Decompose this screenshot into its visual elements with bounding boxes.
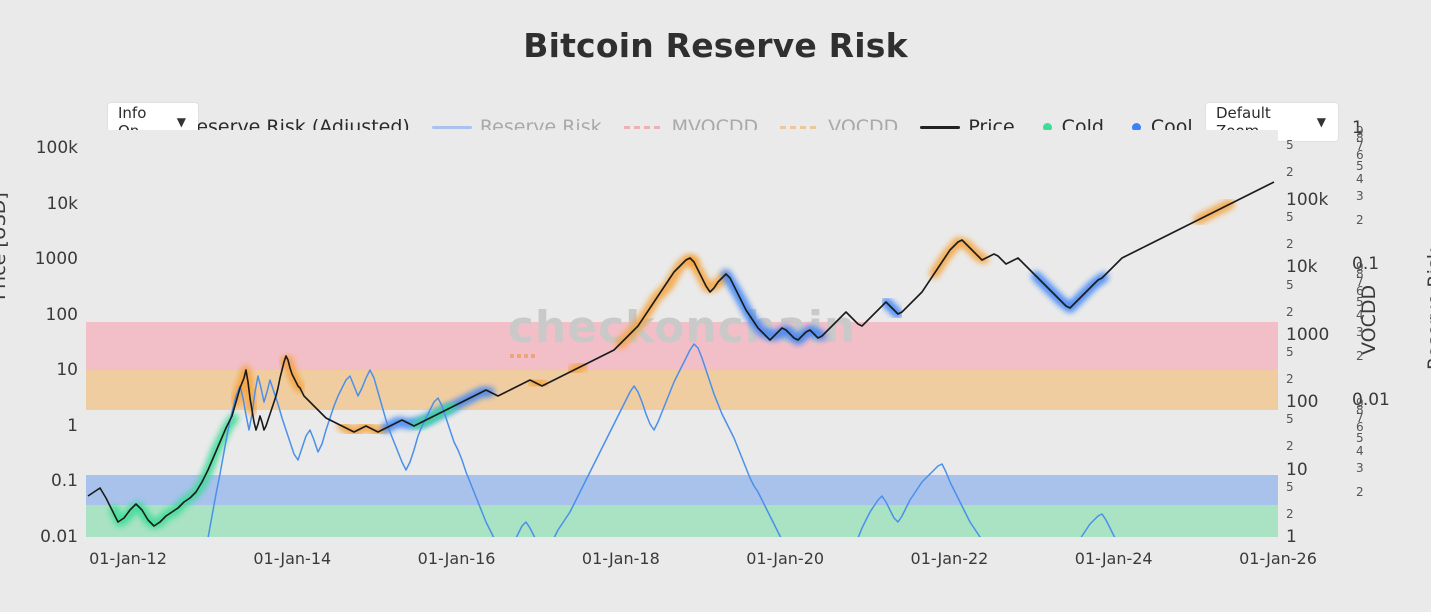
ytick-price-100: 100 (0, 305, 78, 325)
ytick-price-1000: 1000 (0, 249, 78, 269)
ytick-reserverisk-minor-5-0: 5 (1356, 159, 1364, 173)
ytick-reserverisk-minor-2-2: 2 (1356, 485, 1364, 499)
ytick-reserverisk-minor-2-0: 2 (1356, 213, 1364, 227)
ytick-vocdd-minor-5-1: 5 (1286, 278, 1294, 292)
legend-marker-price (920, 126, 960, 129)
xtick-01-Jan-22: 01-Jan-22 (911, 549, 989, 568)
ytick-vocdd-10: 10 (1286, 460, 1308, 480)
legend-marker-mvocdd (624, 126, 664, 129)
xtick-01-Jan-18: 01-Jan-18 (582, 549, 660, 568)
ytick-reserverisk-minor-5-2: 5 (1356, 431, 1364, 445)
ytick-vocdd-100k: 100k (1286, 190, 1328, 210)
xtick-01-Jan-20: 01-Jan-20 (746, 549, 824, 568)
ytick-reserverisk-minor-2-1: 2 (1356, 349, 1364, 363)
ytick-vocdd-minor-2-4: 2 (1286, 507, 1294, 521)
ytick-vocdd-minor-5-2: 5 (1286, 345, 1294, 359)
ytick-vocdd-minor-2-0: 2 (1286, 237, 1294, 251)
chart-plot-area[interactable]: checkonchain (86, 130, 1278, 537)
price-highlight-warm (620, 259, 694, 344)
ytick-reserverisk-minor-3-1: 3 (1356, 325, 1364, 339)
ytick-vocdd-minor-2-1: 2 (1286, 305, 1294, 319)
ytick-price-10k: 10k (0, 194, 78, 214)
price-highlight-cool (726, 274, 822, 340)
ytick-vocdd-minor-5-top: 5 (1286, 138, 1294, 152)
series-line-reserve-risk (99, 344, 1274, 537)
ytick-reserverisk-minor-4-1: 4 (1356, 308, 1364, 322)
ytick-price-1: 1 (0, 416, 78, 436)
legend-marker-reserve-risk (432, 126, 472, 129)
chevron-down-icon: ▼ (173, 115, 198, 129)
ytick-reserverisk-minor-3-2: 3 (1356, 461, 1364, 475)
ytick-vocdd-minor-2-top: 2 (1286, 165, 1294, 179)
ytick-price-0.01: 0.01 (0, 527, 78, 547)
xtick-01-Jan-14: 01-Jan-14 (253, 549, 331, 568)
ytick-vocdd-1000: 1000 (1286, 325, 1329, 345)
ytick-price-10: 10 (0, 360, 78, 380)
xtick-01-Jan-12: 01-Jan-12 (89, 549, 167, 568)
ytick-reserverisk-minor-4-2: 4 (1356, 444, 1364, 458)
ytick-vocdd-minor-5-0: 5 (1286, 210, 1294, 224)
ytick-price-0.1: 0.1 (0, 471, 78, 491)
page-title: Bitcoin Reserve Risk (0, 26, 1431, 65)
xtick-01-Jan-24: 01-Jan-24 (1075, 549, 1153, 568)
ytick-reserverisk-minor-3-0: 3 (1356, 189, 1364, 203)
ytick-vocdd-minor-2-3: 2 (1286, 439, 1294, 453)
legend-marker-vocdd (780, 126, 820, 129)
ytick-vocdd-minor-5-4: 5 (1286, 480, 1294, 494)
y-axis-label-reserve-risk: Reserve Risk (1424, 248, 1431, 370)
ytick-vocdd-1: 1 (1286, 527, 1297, 547)
price-highlight-warm (934, 242, 984, 274)
xtick-01-Jan-16: 01-Jan-16 (418, 549, 496, 568)
ytick-reserverisk-minor-4-0: 4 (1356, 172, 1364, 186)
xtick-01-Jan-26: 01-Jan-26 (1239, 549, 1317, 568)
chevron-down-icon: ▼ (1313, 115, 1338, 129)
ytick-vocdd-minor-2-2: 2 (1286, 372, 1294, 386)
y-axis-label-price: Price [USD] (0, 192, 10, 300)
series-canvas (86, 130, 1278, 537)
ytick-reserverisk-minor-5-1: 5 (1356, 295, 1364, 309)
ytick-vocdd-100: 100 (1286, 392, 1318, 412)
price-highlight-warm (692, 260, 724, 288)
ytick-vocdd-minor-5-3: 5 (1286, 412, 1294, 426)
series-line-price (88, 182, 1274, 526)
ytick-price-100k: 100k (0, 138, 78, 158)
price-highlight-cool (1036, 276, 1104, 308)
ytick-vocdd-10k: 10k (1286, 257, 1317, 277)
